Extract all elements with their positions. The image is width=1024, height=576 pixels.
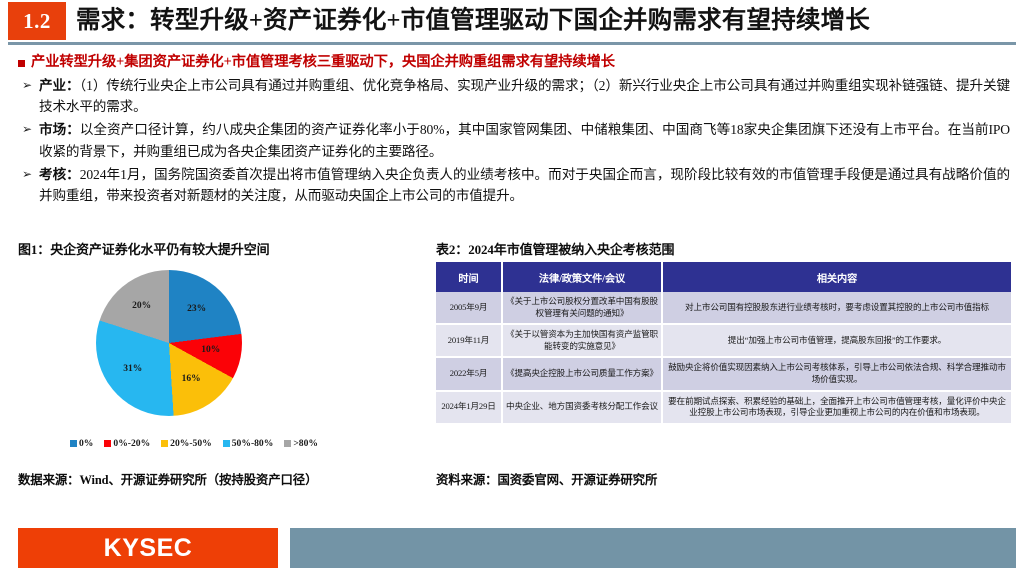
table-row: 2024年1月29日中央企业、地方国资委考核分配工作会议要在前期试点探索、积累经… xyxy=(436,391,1011,424)
content-body: 产业转型升级+集团资产证券化+市值管理考核三重驱动下，央国企并购重组需求有望持续… xyxy=(0,52,1024,206)
table-cell-content: 鼓励央企将价值实现因素纳入上市公司考核体系，引导上市公司依法合规、科学合理推动市… xyxy=(662,357,1011,390)
section-number-badge: 1.2 xyxy=(8,2,66,40)
table-cell-content: 提出“加强上市公司市值管理，提高股东回报”的工作要求。 xyxy=(662,324,1011,357)
legend-item[interactable]: 20%-50% xyxy=(161,438,212,449)
pie-chart-canvas: 23%10%16%31%20% xyxy=(96,270,242,416)
policy-table: 时间 法律/政策文件/会议 相关内容 2005年9月《关于上市公司股权分置改革中… xyxy=(436,262,1011,425)
legend-label: 0%-20% xyxy=(113,438,150,449)
table-header-content: 相关内容 xyxy=(662,262,1011,292)
arrow-bullet-icon: ➢ xyxy=(22,75,39,96)
table-cell-content: 对上市公司国有控股股东进行业绩考核时，要考虑设置其控股的上市公司市值指标 xyxy=(662,292,1011,324)
pie-disc xyxy=(96,270,242,416)
lead-statement: 产业转型升级+集团资产证券化+市值管理考核三重驱动下，央国企并购重组需求有望持续… xyxy=(0,52,1024,73)
brand-logo-text: KYSEC xyxy=(18,528,278,568)
policy-table-wrapper: 时间 法律/政策文件/会议 相关内容 2005年9月《关于上市公司股权分置改革中… xyxy=(436,262,1011,425)
figure-caption: 图1：央企资产证券化水平仍有较大提升空间 xyxy=(18,239,270,258)
table-cell-document: 《提高央企控股上市公司质量工作方案》 xyxy=(502,357,662,390)
brand-logo: KYSEC xyxy=(18,528,278,568)
legend-swatch-icon xyxy=(223,440,230,447)
policy-table-body: 2005年9月《关于上市公司股权分置改革中国有股股权管理有关问题的通知》对上市公… xyxy=(436,292,1011,424)
pie-chart-legend: 0%0%-20%20%-50%50%-80%>80% xyxy=(18,438,418,449)
legend-label: 0% xyxy=(79,438,93,449)
table-cell-time: 2024年1月29日 xyxy=(436,391,502,424)
table-cell-content: 要在前期试点探索、积累经验的基础上，全面推开上市公司市值管理考核，量化评价中央企… xyxy=(662,391,1011,424)
table-header-row: 时间 法律/政策文件/会议 相关内容 xyxy=(436,262,1011,292)
square-bullet-icon xyxy=(18,52,31,73)
table-row: 2005年9月《关于上市公司股权分置改革中国有股股权管理有关问题的通知》对上市公… xyxy=(436,292,1011,324)
table-cell-time: 2022年5月 xyxy=(436,357,502,390)
table-header-document: 法律/政策文件/会议 xyxy=(502,262,662,292)
table-source-note: 资料来源：国资委官网、开源证券研究所 xyxy=(436,470,657,488)
table-row: 2019年11月《关于以管资本为主加快国有资产监管职能转变的实施意见》提出“加强… xyxy=(436,324,1011,357)
legend-item[interactable]: 0%-20% xyxy=(104,438,150,449)
paragraph-assessment-body: 考核：2024年1月，国务院国资委首次提出将市值管理纳入央企负责人的业绩考核中。… xyxy=(39,164,1010,206)
legend-item[interactable]: 0% xyxy=(70,438,93,449)
pie-slice-label: 20% xyxy=(132,301,151,311)
legend-label: 50%-80% xyxy=(232,438,274,449)
legend-swatch-icon xyxy=(284,440,291,447)
legend-swatch-icon xyxy=(104,440,111,447)
table-cell-document: 《关于以管资本为主加快国有资产监管职能转变的实施意见》 xyxy=(502,324,662,357)
table-header-time: 时间 xyxy=(436,262,502,292)
figure-source-note: 数据来源：Wind、开源证券研究所（按持股资产口径） xyxy=(18,470,317,488)
legend-label: 20%-50% xyxy=(170,438,212,449)
table-cell-time: 2019年11月 xyxy=(436,324,502,357)
legend-item[interactable]: 50%-80% xyxy=(223,438,274,449)
paragraph-market-text: 以全资产口径计算，约八成央企集团的资产证券化率小于80%，其中国家管网集团、中储… xyxy=(39,122,1010,158)
footer-bar xyxy=(290,528,1016,568)
pie-chart: 23%10%16%31%20% 0%0%-20%20%-50%50%-80%>8… xyxy=(18,262,418,467)
paragraph-assessment-label: 考核： xyxy=(39,167,80,182)
legend-swatch-icon xyxy=(161,440,168,447)
pie-slice-label: 23% xyxy=(187,304,206,314)
arrow-bullet-icon: ➢ xyxy=(22,164,39,185)
header-divider xyxy=(8,42,1016,45)
paragraph-industry: ➢ 产业：（1）传统行业央企上市公司具有通过并购重组、优化竞争格局、实现产业升级… xyxy=(0,73,1024,117)
table-cell-document: 中央企业、地方国资委考核分配工作会议 xyxy=(502,391,662,424)
arrow-bullet-icon: ➢ xyxy=(22,119,39,140)
paragraph-assessment: ➢ 考核：2024年1月，国务院国资委首次提出将市值管理纳入央企负责人的业绩考核… xyxy=(0,162,1024,206)
legend-label: >80% xyxy=(293,438,318,449)
table-caption: 表2：2024年市值管理被纳入央企考核范围 xyxy=(436,239,674,258)
pie-slice-label: 16% xyxy=(182,374,201,384)
pie-slice-label: 31% xyxy=(123,364,142,374)
legend-item[interactable]: >80% xyxy=(284,438,318,449)
lead-statement-text: 产业转型升级+集团资产证券化+市值管理考核三重驱动下，央国企并购重组需求有望持续… xyxy=(31,52,615,72)
paragraph-assessment-text: 2024年1月，国务院国资委首次提出将市值管理纳入央企负责人的业绩考核中。而对于… xyxy=(39,167,1010,203)
table-row: 2022年5月《提高央企控股上市公司质量工作方案》鼓励央企将价值实现因素纳入上市… xyxy=(436,357,1011,390)
paragraph-market: ➢ 市场：以全资产口径计算，约八成央企集团的资产证券化率小于80%，其中国家管网… xyxy=(0,117,1024,161)
table-cell-time: 2005年9月 xyxy=(436,292,502,324)
legend-swatch-icon xyxy=(70,440,77,447)
page-title: 需求：转型升级+资产证券化+市值管理驱动下国企并购需求有望持续增长 xyxy=(76,2,1016,40)
table-cell-document: 《关于上市公司股权分置改革中国有股股权管理有关问题的通知》 xyxy=(502,292,662,324)
pie-slice-label: 10% xyxy=(201,345,220,355)
paragraph-industry-text: （1）传统行业央企上市公司具有通过并购重组、优化竞争格局、实现产业升级的需求；（… xyxy=(39,78,1010,114)
paragraph-industry-label: 产业： xyxy=(39,78,79,93)
paragraph-industry-body: 产业：（1）传统行业央企上市公司具有通过并购重组、优化竞争格局、实现产业升级的需… xyxy=(39,75,1010,117)
paragraph-market-label: 市场： xyxy=(39,122,80,137)
slide-header: 1.2 需求：转型升级+资产证券化+市值管理驱动下国企并购需求有望持续增长 xyxy=(0,0,1024,46)
paragraph-market-body: 市场：以全资产口径计算，约八成央企集团的资产证券化率小于80%，其中国家管网集团… xyxy=(39,119,1010,161)
